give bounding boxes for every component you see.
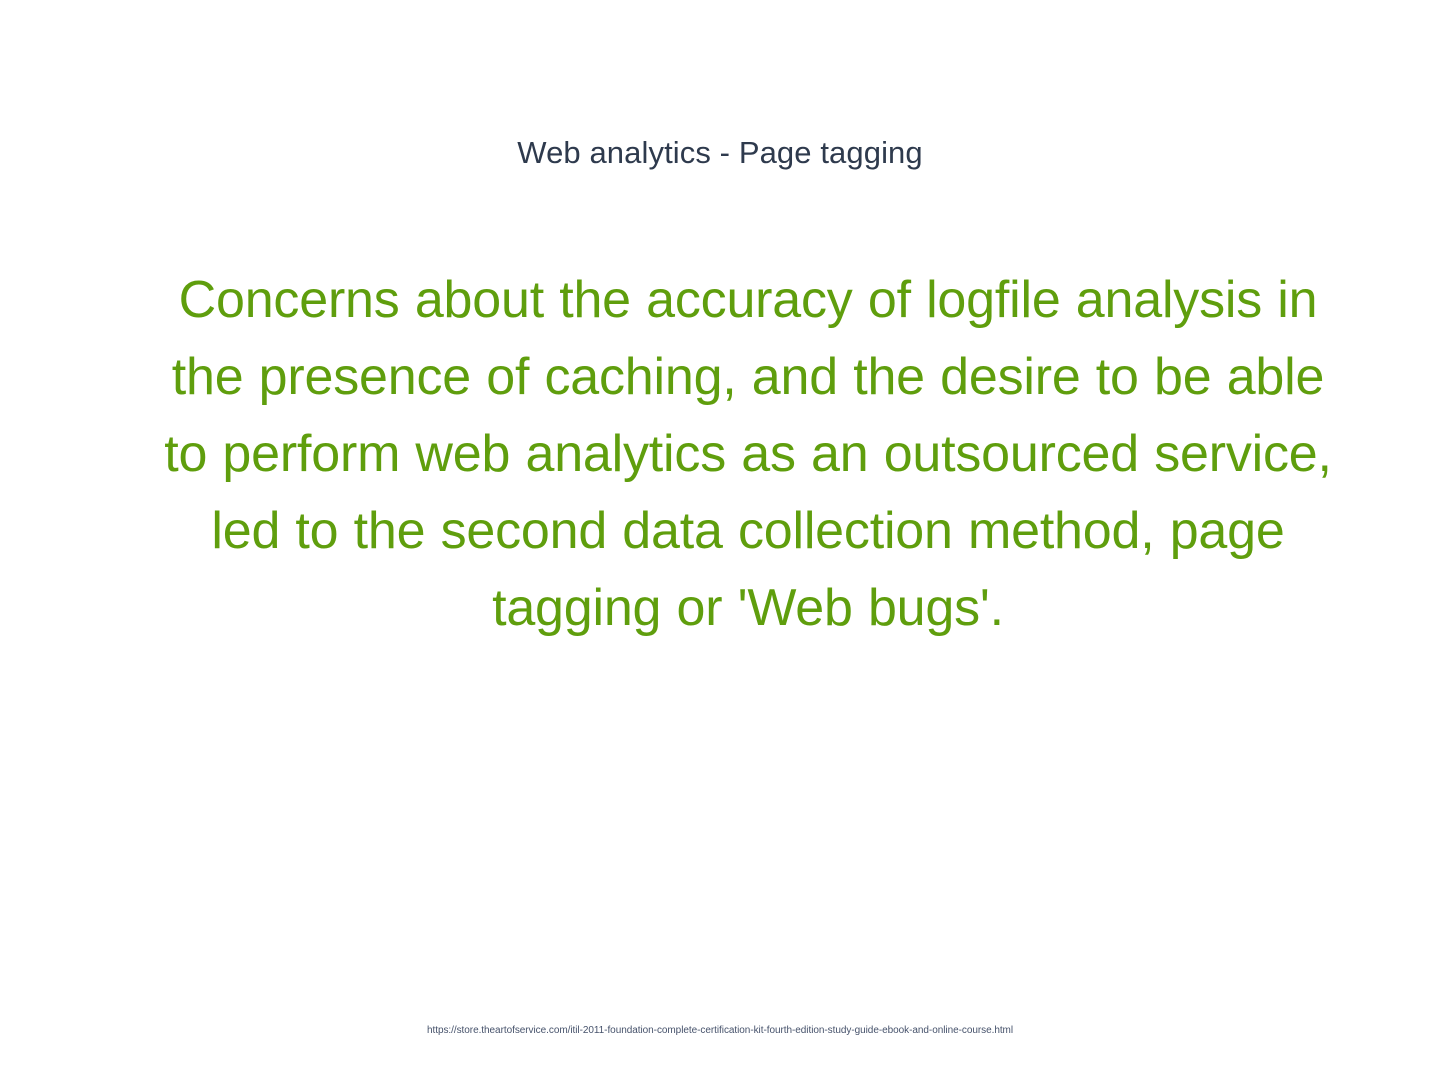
footer-source-url[interactable]: https://store.theartofservice.com/itil-2… — [0, 1024, 1440, 1038]
slide-body-text: Concerns about the accuracy of logfile a… — [156, 262, 1340, 647]
slide-canvas: Web analytics - Page tagging Concerns ab… — [0, 0, 1440, 1080]
slide-body-container: Concerns about the accuracy of logfile a… — [156, 262, 1340, 647]
page-title: Web analytics - Page tagging — [0, 133, 1440, 173]
